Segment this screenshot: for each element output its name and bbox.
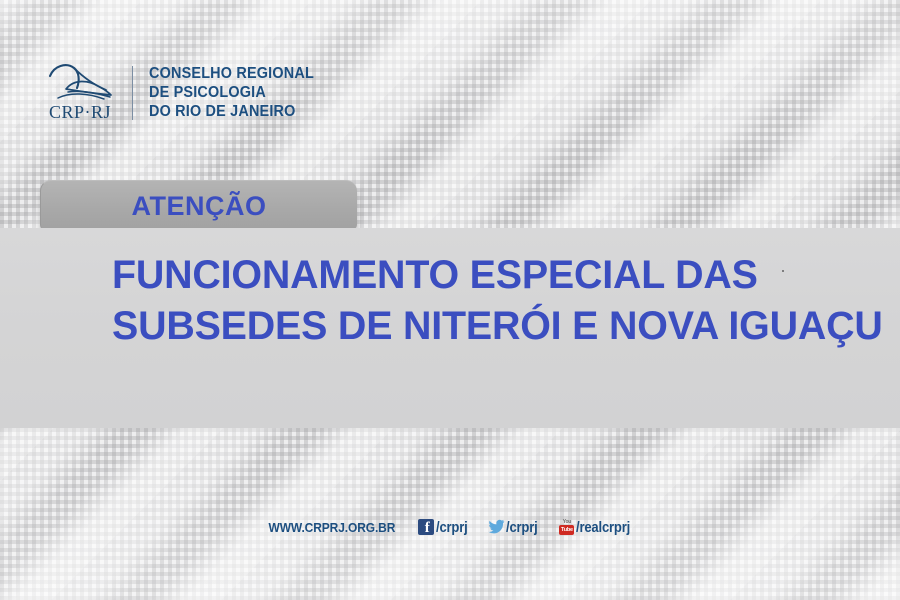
twitter-icon xyxy=(488,519,505,536)
crp-rj-dove-logo-icon: CRP·RJ xyxy=(44,58,118,128)
logo-line-1: CONSELHO REGIONAL xyxy=(149,65,314,83)
headline-line-1: FUNCIONAMENTO ESPECIAL DAS xyxy=(112,250,841,301)
logo-line-2: DE PSICOLOGIA xyxy=(149,84,314,102)
alert-banner: ATENÇÃO xyxy=(40,180,357,229)
website-url[interactable]: WWW.CRPRJ.ORG.BR xyxy=(269,520,396,535)
social-link-facebook[interactable]: f /crprj xyxy=(418,519,471,536)
image-artifact-speck xyxy=(782,270,784,272)
footer-contact-bar: WWW.CRPRJ.ORG.BR f /crprj /crprj You Tub… xyxy=(0,519,900,536)
social-link-youtube[interactable]: You Tube /realcrprj xyxy=(558,519,636,536)
facebook-handle: /crprj xyxy=(436,520,468,536)
svg-text:CRP·RJ: CRP·RJ xyxy=(49,102,111,122)
facebook-icon: f xyxy=(418,519,435,536)
logo-divider xyxy=(132,66,133,120)
youtube-icon: You Tube xyxy=(558,519,575,536)
twitter-handle: /crprj xyxy=(506,520,538,536)
headline-line-2: SUBSEDES DE NITERÓI E NOVA IGUAÇU xyxy=(112,301,841,352)
logo-wordmark: CONSELHO REGIONAL DE PSICOLOGIA DO RIO D… xyxy=(149,65,326,121)
crp-rj-logo: CRP·RJ CONSELHO REGIONAL DE PSICOLOGIA D… xyxy=(44,56,326,130)
alert-banner-label: ATENÇÃO xyxy=(132,191,267,222)
logo-line-3: DO RIO DE JANEIRO xyxy=(149,103,314,121)
poster-canvas: CRP·RJ CONSELHO REGIONAL DE PSICOLOGIA D… xyxy=(0,0,900,600)
headline: FUNCIONAMENTO ESPECIAL DAS SUBSEDES DE N… xyxy=(112,250,852,352)
youtube-handle: /realcrprj xyxy=(576,520,630,536)
social-link-twitter[interactable]: /crprj xyxy=(488,519,541,536)
